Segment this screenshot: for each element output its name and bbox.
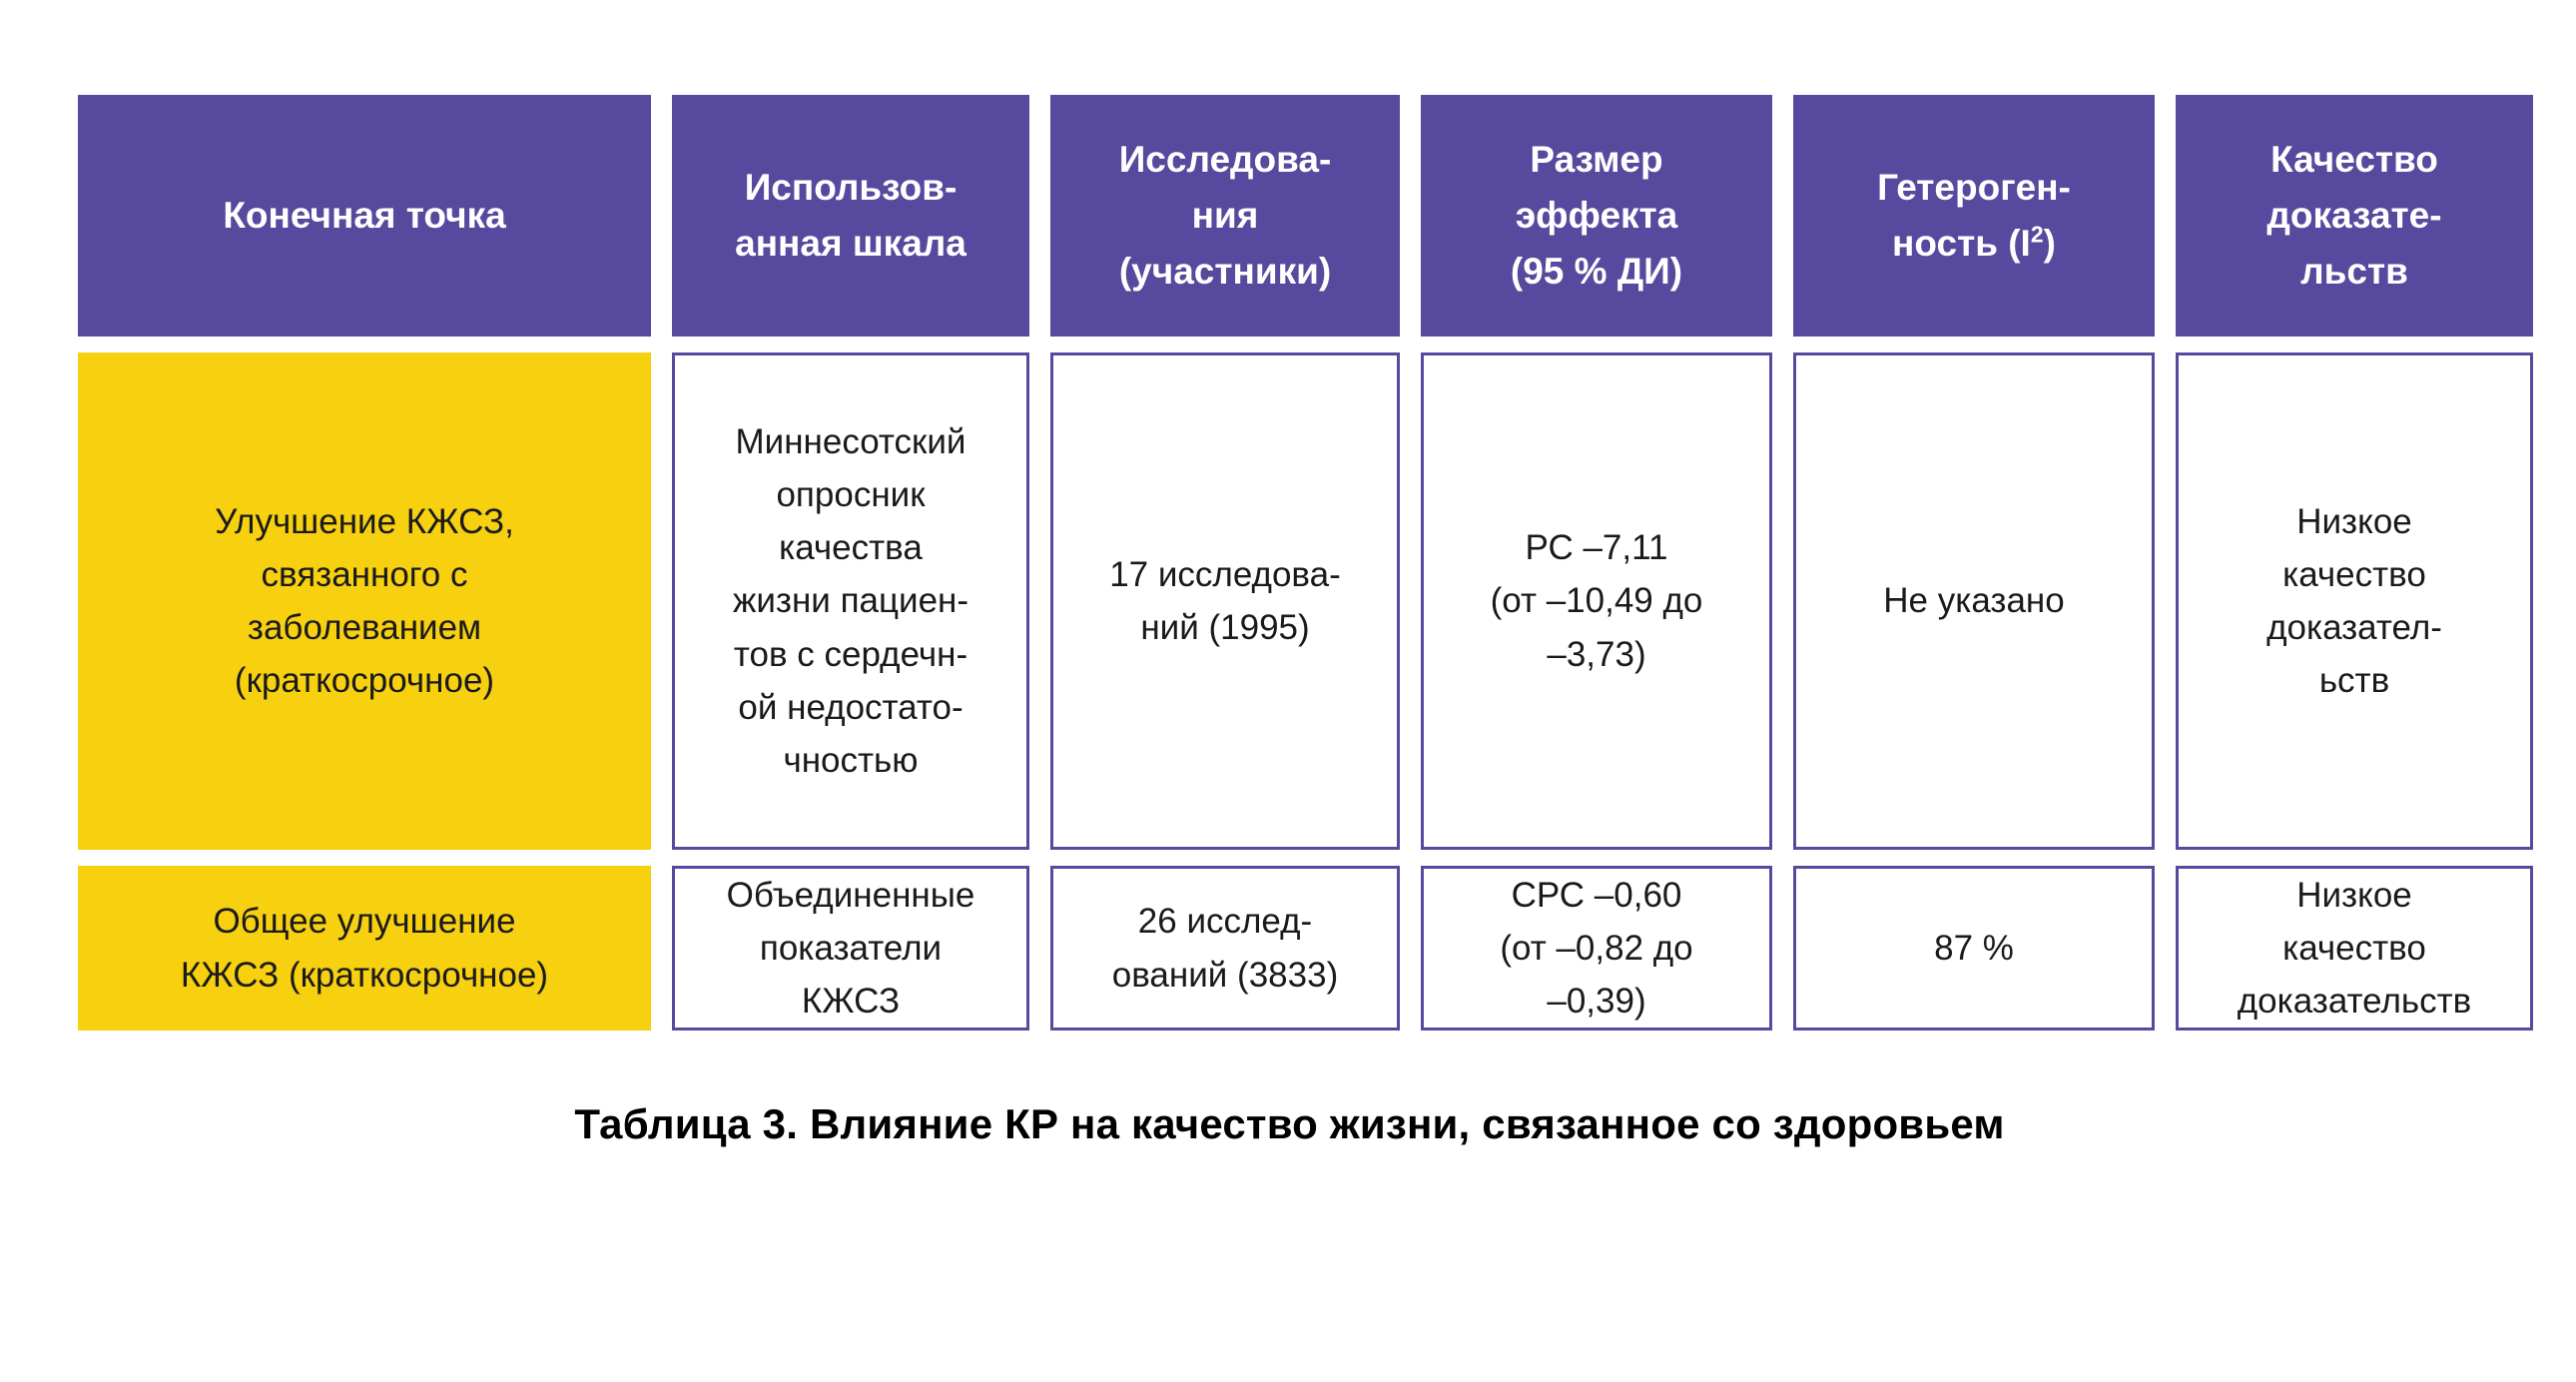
- row-1-effect-size-text: РС –7,11 (от –10,49 до –3,73): [1440, 521, 1753, 681]
- row-1-heterogeneity-text: Не указано: [1812, 574, 2136, 627]
- header-label-effect-size: Размер эффекта (95 % ДИ): [1437, 132, 1756, 301]
- header-label-studies: Исследова- ния (участники): [1066, 132, 1384, 301]
- header-label-heterogeneity-tail: ): [2044, 223, 2056, 264]
- row-2-scale-cell: Объединенные показатели КЖСЗ: [672, 866, 1029, 1031]
- header-cell-evidence-quality: Качество доказате- льств: [2176, 95, 2533, 337]
- table-row: Улучшение КЖСЗ, связанного с заболевание…: [78, 352, 2501, 850]
- header-cell-studies: Исследова- ния (участники): [1050, 95, 1400, 337]
- row-2-endpoint-text: Общее улучшение КЖСЗ (краткосрочное): [94, 895, 635, 1001]
- row-2-studies-cell: 26 исслед- ований (3833): [1050, 866, 1400, 1031]
- row-2-scale-text: Объединенные показатели КЖСЗ: [691, 869, 1010, 1029]
- header-label-heterogeneity-main: Гетероген- ность (I: [1877, 167, 2071, 264]
- table-caption: Таблица 3. Влияние КР на качество жизни,…: [78, 1100, 2501, 1148]
- header-label-scale: Использов- анная шкала: [688, 160, 1013, 272]
- row-1-studies-text: 17 исследова- ний (1995): [1069, 548, 1381, 654]
- row-1-scale-cell: Миннесотский опросник качества жизни пац…: [672, 352, 1029, 850]
- header-cell-heterogeneity: Гетероген- ность (I2): [1793, 95, 2155, 337]
- row-1-evidence-quality-text: Низкое качество доказател- ьств: [2195, 495, 2514, 708]
- row-1-endpoint-text: Улучшение КЖСЗ, связанного с заболевание…: [94, 495, 635, 708]
- table-row: Общее улучшение КЖСЗ (краткосрочное) Объ…: [78, 866, 2501, 1031]
- superscript-two: 2: [2031, 222, 2044, 248]
- row-1-evidence-quality-cell: Низкое качество доказател- ьств: [2176, 352, 2533, 850]
- row-2-endpoint-cell: Общее улучшение КЖСЗ (краткосрочное): [78, 866, 651, 1031]
- row-2-effect-size-cell: СРС –0,60 (от –0,82 до –0,39): [1421, 866, 1772, 1031]
- header-label-heterogeneity: Гетероген- ность (I2): [1809, 160, 2139, 272]
- evidence-table: Конечная точка Использов- анная шкала Ис…: [78, 95, 2501, 1031]
- row-1-endpoint-cell: Улучшение КЖСЗ, связанного с заболевание…: [78, 352, 651, 850]
- header-cell-endpoint: Конечная точка: [78, 95, 651, 337]
- row-2-evidence-quality-cell: Низкое качество доказательств: [2176, 866, 2533, 1031]
- header-cell-effect-size: Размер эффекта (95 % ДИ): [1421, 95, 1772, 337]
- row-1-effect-size-cell: РС –7,11 (от –10,49 до –3,73): [1421, 352, 1772, 850]
- row-2-heterogeneity-cell: 87 %: [1793, 866, 2155, 1031]
- row-2-evidence-quality-text: Низкое качество доказательств: [2195, 869, 2514, 1029]
- row-1-studies-cell: 17 исследова- ний (1995): [1050, 352, 1400, 850]
- row-1-scale-text: Миннесотский опросник качества жизни пац…: [691, 415, 1010, 787]
- header-label-evidence-quality: Качество доказате- льств: [2192, 132, 2517, 301]
- header-cell-scale: Использов- анная шкала: [672, 95, 1029, 337]
- row-2-studies-text: 26 исслед- ований (3833): [1069, 895, 1381, 1001]
- table-page: Конечная точка Использов- анная шкала Ис…: [0, 0, 2576, 1382]
- table-header-row: Конечная точка Использов- анная шкала Ис…: [78, 95, 2501, 337]
- row-2-effect-size-text: СРС –0,60 (от –0,82 до –0,39): [1440, 869, 1753, 1029]
- row-2-heterogeneity-text: 87 %: [1812, 922, 2136, 975]
- header-label-endpoint: Конечная точка: [94, 188, 635, 244]
- row-1-heterogeneity-cell: Не указано: [1793, 352, 2155, 850]
